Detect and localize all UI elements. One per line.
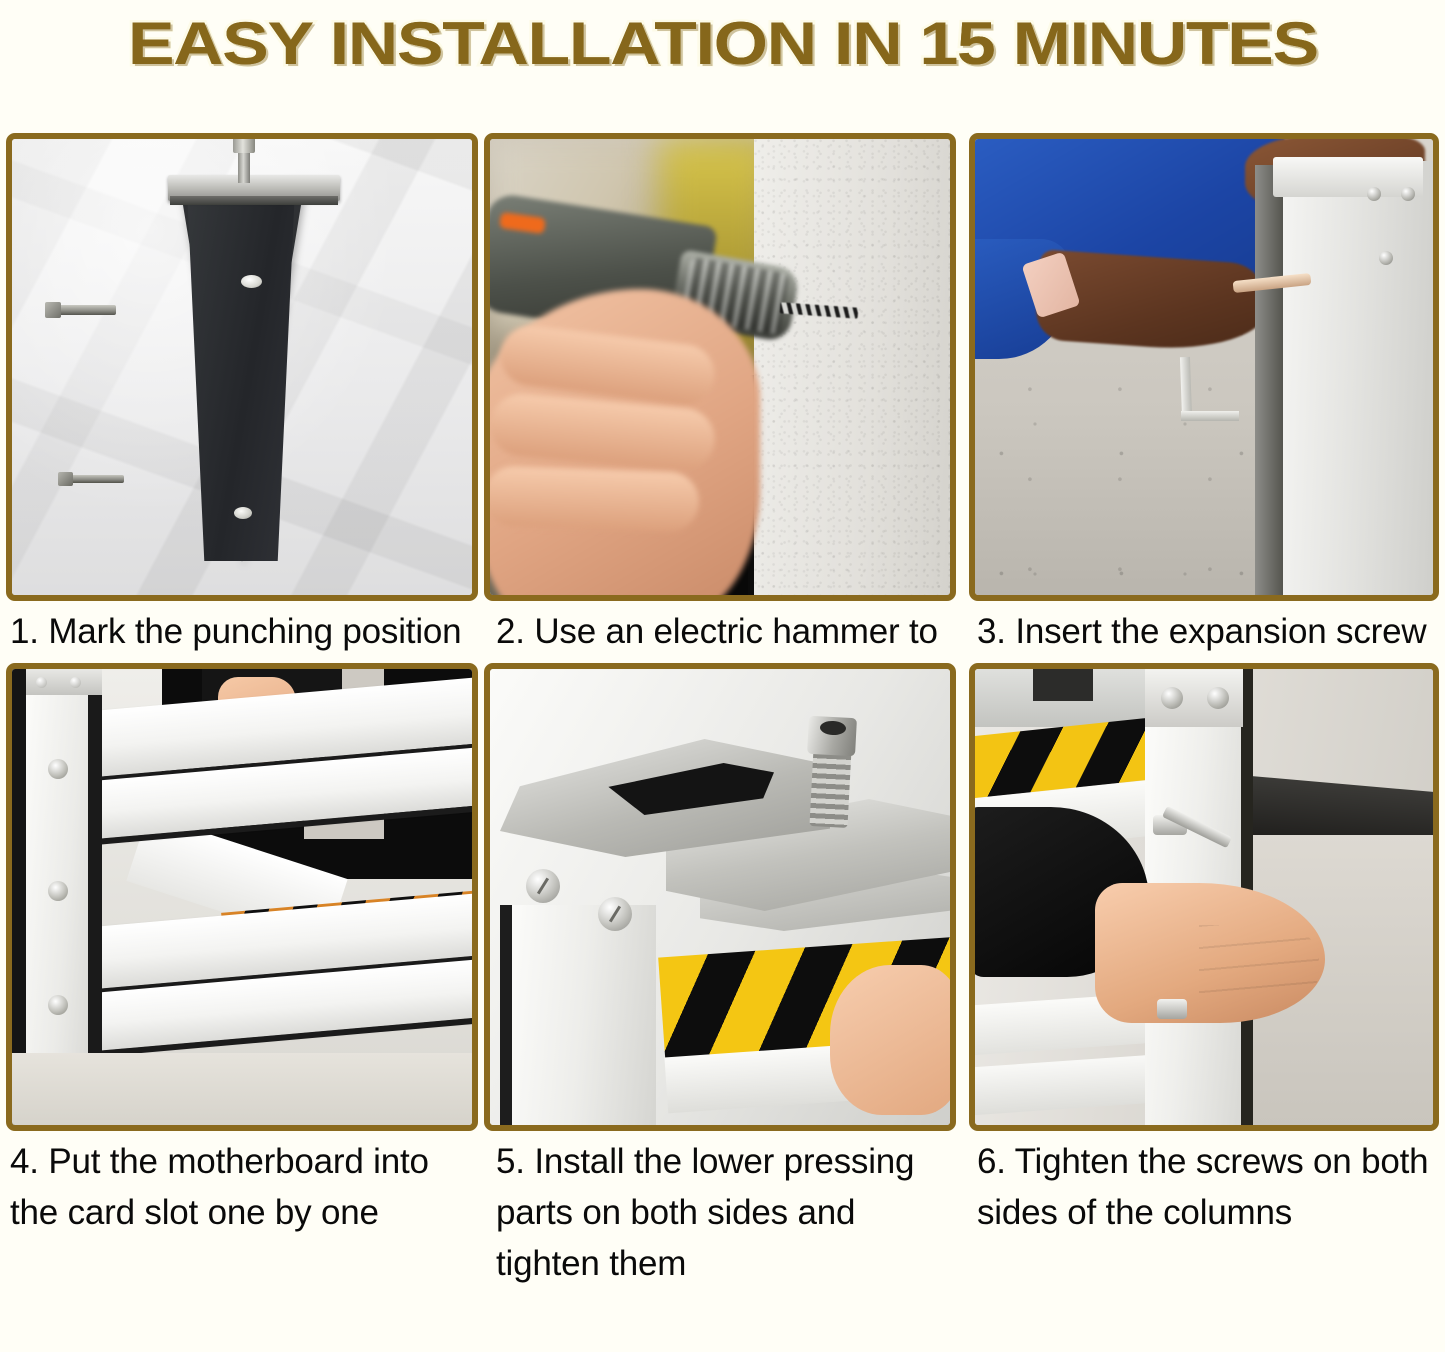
hex-key	[1180, 357, 1192, 419]
steps-grid: 1. Mark the punching position 2. Use an …	[0, 86, 1445, 1352]
cap-screw	[1161, 687, 1183, 709]
cap-screw	[70, 677, 81, 688]
white-post	[1283, 161, 1433, 595]
white-wall	[754, 139, 950, 595]
expansion-screw	[1401, 187, 1415, 201]
step-2-image-frame	[484, 133, 956, 601]
step-1-image-frame	[6, 133, 478, 601]
step-2-caption-cell: 2. Use an electric hammer to drill holes…	[478, 588, 963, 616]
step-1-scene	[12, 139, 472, 595]
step-6-image-frame	[969, 663, 1439, 1131]
step-2-photo-cell	[478, 86, 963, 588]
step-5-scene	[490, 669, 950, 1125]
step-4-image-frame	[6, 663, 478, 1131]
side-screw	[1157, 999, 1187, 1019]
dark-column-face	[187, 189, 295, 561]
top-stud-head	[233, 139, 255, 153]
phillips-screw	[526, 869, 560, 903]
floor	[12, 1053, 472, 1125]
page-title: EASY INSTALLATION IN 15 MINUTES	[128, 14, 1318, 74]
cap-screw	[1207, 687, 1229, 709]
cap-screw	[36, 677, 47, 688]
upper-bolt-head	[45, 302, 61, 318]
finger	[830, 965, 950, 1115]
lower-bolt	[64, 475, 124, 483]
step-1-caption-cell: 1. Mark the punching position	[0, 588, 478, 616]
upper-mounting-hole	[241, 275, 262, 288]
dark-gap	[1033, 669, 1093, 701]
phillips-screw	[598, 897, 632, 931]
expansion-screw	[1367, 187, 1381, 201]
step-6-photo-cell	[963, 616, 1445, 1118]
finger	[490, 465, 700, 532]
step-4-scene	[12, 669, 472, 1125]
step-1-photo-cell	[0, 86, 478, 588]
step-3-scene	[975, 139, 1433, 595]
step-2-scene	[490, 139, 950, 595]
step-5-image-frame	[484, 663, 956, 1131]
column-top-plate-edge	[170, 196, 338, 205]
step-3-photo-cell	[963, 86, 1445, 588]
step-6-caption: 6. Tighten the screws on both sides of t…	[963, 1118, 1445, 1238]
step-5-caption-cell: 5. Install the lower pressing parts on b…	[478, 1118, 963, 1352]
step-5-photo-cell	[478, 616, 963, 1118]
step-6-caption-cell: 6. Tighten the screws on both sides of t…	[963, 1118, 1445, 1352]
post-side-face	[1255, 165, 1283, 595]
step-4-caption: 4. Put the motherboard into the card slo…	[0, 1118, 478, 1238]
post-hole	[48, 881, 68, 901]
expansion-screw	[1379, 251, 1393, 265]
step-4-photo-cell	[0, 616, 478, 1118]
step-4-caption-cell: 4. Put the motherboard into the card slo…	[0, 1118, 478, 1352]
step-5-caption: 5. Install the lower pressing parts on b…	[478, 1118, 963, 1289]
header-banner: EASY INSTALLATION IN 15 MINUTES	[0, 0, 1445, 86]
post-hole	[48, 995, 68, 1015]
white-post	[508, 905, 656, 1125]
hex-key-short-arm	[1181, 411, 1239, 421]
post-hole	[48, 759, 68, 779]
lower-mounting-hole	[234, 507, 252, 519]
post-dark-edge	[500, 905, 512, 1125]
lower-bolt-head	[58, 472, 73, 486]
step-6-scene	[975, 669, 1433, 1125]
step-3-caption-cell: 3. Insert the expansion screw into the h…	[963, 588, 1445, 616]
step-3-image-frame	[969, 133, 1439, 601]
